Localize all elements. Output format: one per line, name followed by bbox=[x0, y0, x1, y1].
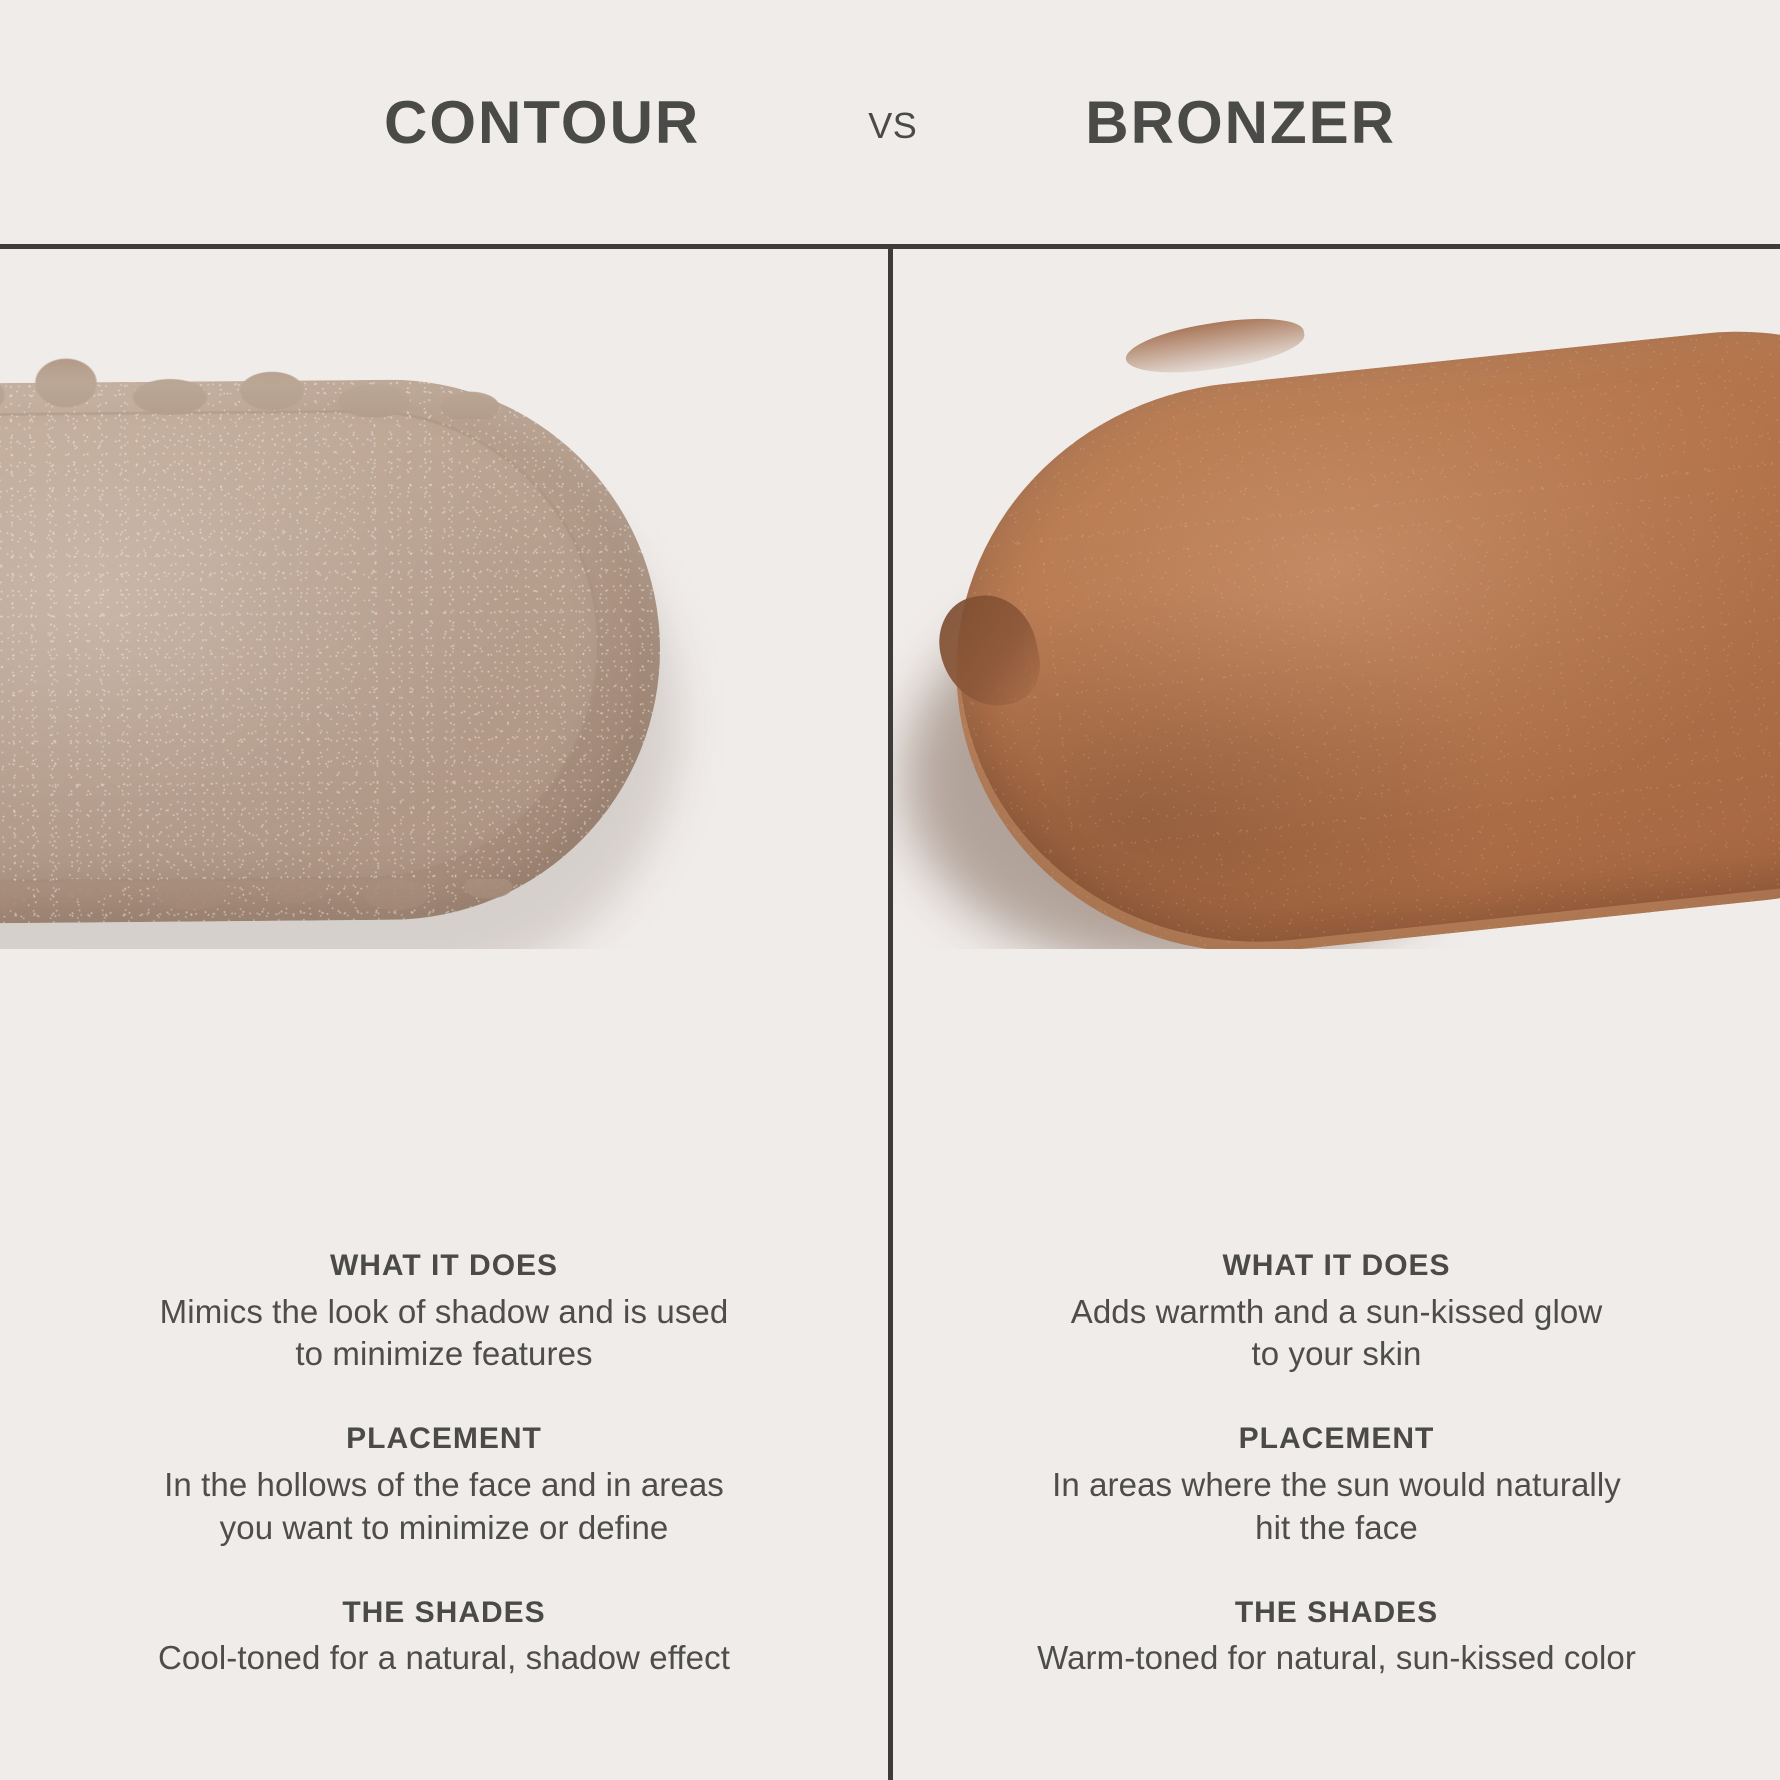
bronzer-section-what-it-does: WHAT IT DOES Adds warmth and a sun-kisse… bbox=[949, 1249, 1724, 1376]
section-heading: PLACEMENT bbox=[949, 1422, 1724, 1456]
section-body: In the hollows of the face and in areas … bbox=[64, 1464, 824, 1550]
header-bar: CONTOUR VS BRONZER bbox=[0, 0, 1780, 246]
section-body-line: to your skin bbox=[949, 1333, 1724, 1376]
panel-contour: WHAT IT DOES Mimics the look of shadow a… bbox=[0, 249, 888, 1780]
section-body: Warm-toned for natural, sun-kissed color bbox=[949, 1637, 1724, 1680]
header-titles-row: CONTOUR VS BRONZER bbox=[0, 0, 1780, 246]
page-title-bronzer: BRONZER bbox=[1085, 93, 1396, 153]
section-heading: WHAT IT DOES bbox=[949, 1249, 1724, 1283]
section-body-line: you want to minimize or define bbox=[64, 1507, 824, 1550]
contour-swatch-fringe bbox=[0, 879, 580, 935]
contour-section-what-it-does: WHAT IT DOES Mimics the look of shadow a… bbox=[64, 1249, 824, 1376]
section-body-line: Cool-toned for a natural, shadow effect bbox=[64, 1637, 824, 1680]
bronzer-swatch-crumb bbox=[1123, 309, 1308, 383]
contour-section-the-shades: THE SHADES Cool-toned for a natural, sha… bbox=[64, 1596, 824, 1680]
section-heading: PLACEMENT bbox=[64, 1422, 824, 1456]
section-heading: THE SHADES bbox=[949, 1596, 1724, 1630]
section-body: Cool-toned for a natural, shadow effect bbox=[64, 1637, 824, 1680]
bronzer-copy-block: WHAT IT DOES Adds warmth and a sun-kisse… bbox=[893, 1249, 1780, 1680]
contour-section-placement: PLACEMENT In the hollows of the face and… bbox=[64, 1422, 824, 1549]
panel-bronzer: WHAT IT DOES Adds warmth and a sun-kisse… bbox=[893, 249, 1780, 1780]
bronzer-section-placement: PLACEMENT In areas where the sun would n… bbox=[949, 1422, 1724, 1549]
page-title-contour: CONTOUR bbox=[384, 93, 700, 153]
section-body-line: Warm-toned for natural, sun-kissed color bbox=[949, 1637, 1724, 1680]
bronzer-swatch-rim bbox=[928, 302, 1780, 949]
section-body-line: In areas where the sun would naturally bbox=[949, 1464, 1724, 1507]
section-body: Mimics the look of shadow and is used to… bbox=[64, 1291, 824, 1377]
section-body-line: Mimics the look of shadow and is used bbox=[64, 1291, 824, 1334]
bronzer-section-the-shades: THE SHADES Warm-toned for natural, sun-k… bbox=[949, 1596, 1724, 1680]
contour-copy-block: WHAT IT DOES Mimics the look of shadow a… bbox=[0, 1249, 888, 1680]
comparison-infographic: CONTOUR VS BRONZER WHAT IT DOES Mimics t… bbox=[0, 0, 1780, 1780]
section-heading: THE SHADES bbox=[64, 1596, 824, 1630]
section-body-line: Adds warmth and a sun-kissed glow bbox=[949, 1291, 1724, 1334]
section-body-line: hit the face bbox=[949, 1507, 1724, 1550]
section-body: Adds warmth and a sun-kissed glow to you… bbox=[949, 1291, 1724, 1377]
section-body-line: to minimize features bbox=[64, 1333, 824, 1376]
section-body-line: In the hollows of the face and in areas bbox=[64, 1464, 824, 1507]
contour-swatch-shimmer bbox=[0, 377, 662, 924]
contour-swatch-crest bbox=[0, 357, 560, 419]
versus-label: VS bbox=[868, 108, 917, 144]
section-body: In areas where the sun would naturally h… bbox=[949, 1464, 1724, 1550]
contour-swatch-area bbox=[0, 249, 888, 949]
bronzer-swatch-area bbox=[893, 249, 1780, 949]
section-heading: WHAT IT DOES bbox=[64, 1249, 824, 1283]
